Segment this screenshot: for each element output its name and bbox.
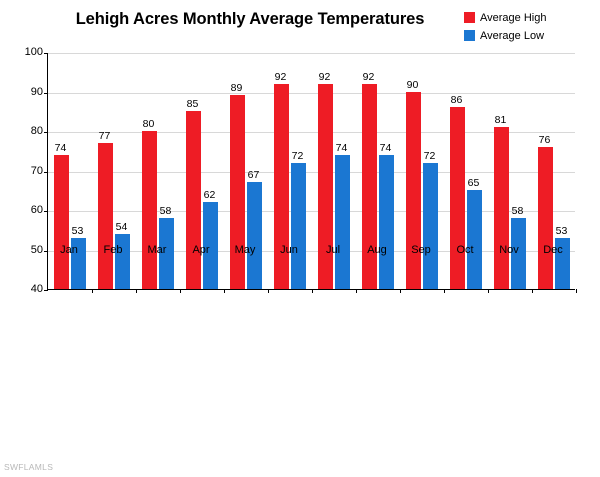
- y-tick-mark: [44, 211, 48, 212]
- y-tick-mark: [44, 172, 48, 173]
- bar-value-label: 72: [410, 151, 450, 162]
- y-tick-label: 80: [3, 126, 43, 137]
- bar-feb-low: [115, 234, 130, 289]
- watermark: SWFLAMLS: [4, 462, 53, 472]
- bar-value-label: 90: [393, 80, 433, 91]
- bar-value-label: 92: [261, 72, 301, 83]
- x-tick-label-aug: Aug: [352, 244, 402, 256]
- bar-value-label: 67: [234, 170, 274, 181]
- x-tick-label-nov: Nov: [484, 244, 534, 256]
- bar-jun-low: [291, 163, 306, 289]
- y-tick-label: 70: [3, 166, 43, 177]
- legend-swatch-average-low: [464, 30, 475, 41]
- bar-feb-high: [98, 143, 113, 289]
- y-tick-label: 50: [3, 245, 43, 256]
- bar-value-label: 86: [437, 95, 477, 106]
- bar-value-label: 92: [349, 72, 389, 83]
- bar-may-high: [230, 95, 245, 289]
- legend-label-average-high: Average High: [480, 12, 546, 24]
- bar-value-label: 77: [85, 131, 125, 142]
- bar-sep-high: [406, 92, 421, 290]
- gridline: [48, 53, 575, 54]
- bar-value-label: 74: [366, 143, 406, 154]
- bar-sep-low: [423, 163, 438, 289]
- legend-label-average-low: Average Low: [480, 30, 544, 42]
- bar-value-label: 65: [454, 178, 494, 189]
- x-tick-label-sep: Sep: [396, 244, 446, 256]
- x-tick-label-oct: Oct: [440, 244, 490, 256]
- chart-legend: Average High Average Low: [464, 10, 582, 46]
- y-tick-label: 60: [3, 205, 43, 216]
- bar-value-label: 89: [217, 83, 257, 94]
- x-tick-mark: [400, 289, 401, 293]
- bar-aug-low: [379, 155, 394, 289]
- bar-oct-high: [450, 107, 465, 289]
- x-tick-label-feb: Feb: [88, 244, 138, 256]
- bar-value-label: 72: [278, 151, 318, 162]
- y-tick-label: 40: [3, 284, 43, 295]
- bar-value-label: 54: [102, 222, 142, 233]
- legend-item-average-low: Average Low: [464, 28, 582, 43]
- bar-oct-low: [467, 190, 482, 289]
- bar-value-label: 53: [58, 226, 98, 237]
- x-tick-label-jun: Jun: [264, 244, 314, 256]
- bar-value-label: 80: [129, 119, 169, 130]
- y-tick-label: 90: [3, 87, 43, 98]
- x-tick-mark: [268, 289, 269, 293]
- x-tick-mark: [92, 289, 93, 293]
- bar-jan-high: [54, 155, 69, 289]
- bar-jun-high: [274, 84, 289, 289]
- y-tick-label: 100: [3, 47, 43, 58]
- bar-dec-high: [538, 147, 553, 289]
- y-tick-mark: [44, 53, 48, 54]
- bar-value-label: 58: [498, 206, 538, 217]
- x-tick-mark: [312, 289, 313, 293]
- bar-value-label: 53: [542, 226, 582, 237]
- y-tick-mark: [44, 290, 48, 291]
- legend-swatch-average-high: [464, 12, 475, 23]
- x-tick-mark: [444, 289, 445, 293]
- bar-jul-low: [335, 155, 350, 289]
- x-tick-mark: [180, 289, 181, 293]
- x-tick-label-mar: Mar: [132, 244, 182, 256]
- bar-value-label: 85: [173, 99, 213, 110]
- bar-value-label: 81: [481, 115, 521, 126]
- x-tick-mark: [136, 289, 137, 293]
- x-tick-mark: [576, 289, 577, 293]
- legend-item-average-high: Average High: [464, 10, 582, 25]
- chart-title: Lehigh Acres Monthly Average Temperature…: [20, 10, 480, 29]
- bar-value-label: 74: [41, 143, 81, 154]
- bar-value-label: 74: [322, 143, 362, 154]
- bar-jul-high: [318, 84, 333, 289]
- x-tick-label-may: May: [220, 244, 270, 256]
- temperature-bar-chart: Lehigh Acres Monthly Average Temperature…: [0, 0, 600, 477]
- x-tick-mark: [488, 289, 489, 293]
- x-tick-mark: [356, 289, 357, 293]
- y-tick-mark: [44, 93, 48, 94]
- x-tick-label-jul: Jul: [308, 244, 358, 256]
- x-tick-mark: [532, 289, 533, 293]
- bar-value-label: 62: [190, 190, 230, 201]
- bar-may-low: [247, 182, 262, 289]
- bar-aug-high: [362, 84, 377, 289]
- gridline: [48, 93, 575, 94]
- x-tick-mark: [224, 289, 225, 293]
- bar-value-label: 92: [305, 72, 345, 83]
- y-tick-mark: [44, 132, 48, 133]
- x-tick-label-jan: Jan: [44, 244, 94, 256]
- bar-value-label: 58: [146, 206, 186, 217]
- x-tick-label-apr: Apr: [176, 244, 226, 256]
- x-tick-label-dec: Dec: [528, 244, 578, 256]
- bar-value-label: 76: [525, 135, 565, 146]
